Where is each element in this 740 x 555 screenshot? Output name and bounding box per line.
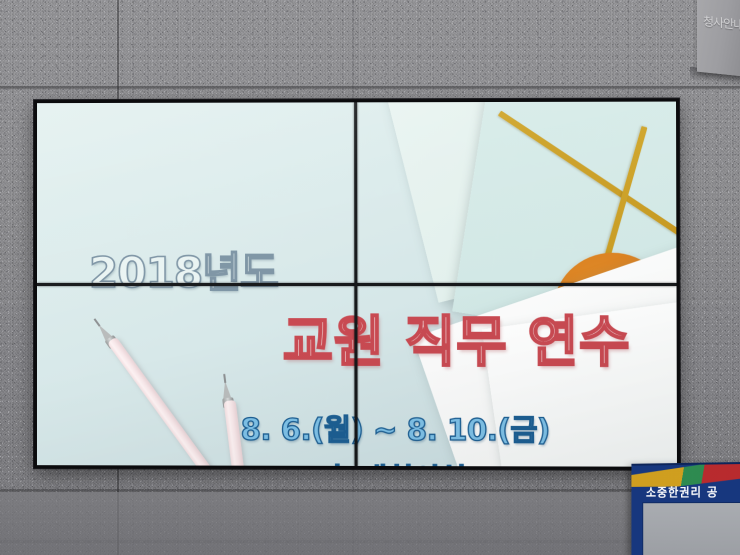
slide-date-range: 8. 6.(월) ~ 8. 10.(금): [241, 406, 550, 449]
pen-barrel: [107, 337, 228, 467]
notice-board[interactable]: 소중한권리 공: [631, 462, 740, 555]
wall-panel-seam-horizontal: [0, 86, 740, 88]
slide-venue: 4층 대회의실: [304, 456, 466, 467]
notice-board-title: 소중한권리 공: [646, 483, 718, 500]
slide-title: 교원 직무 연수: [283, 297, 631, 377]
wall-lower-band: [0, 492, 740, 555]
slide-year-label: 2018년도: [89, 239, 278, 300]
video-wall-seam-vertical: [354, 102, 357, 466]
pen-nib: [223, 374, 226, 383]
notice-board-panel: [642, 502, 740, 555]
video-wall-screen-surface: 2018년도 교원 직무 연수 8. 6.(월) ~ 8. 10.(금) 4층 …: [37, 102, 677, 467]
building-name-plate: 청사안내: [697, 0, 740, 76]
building-name-plate-text: 청사안내: [703, 12, 740, 33]
wall-panel-seam-horizontal: [0, 489, 740, 491]
video-wall-display[interactable]: 2018년도 교원 직무 연수 8. 6.(월) ~ 8. 10.(금) 4층 …: [34, 99, 680, 470]
